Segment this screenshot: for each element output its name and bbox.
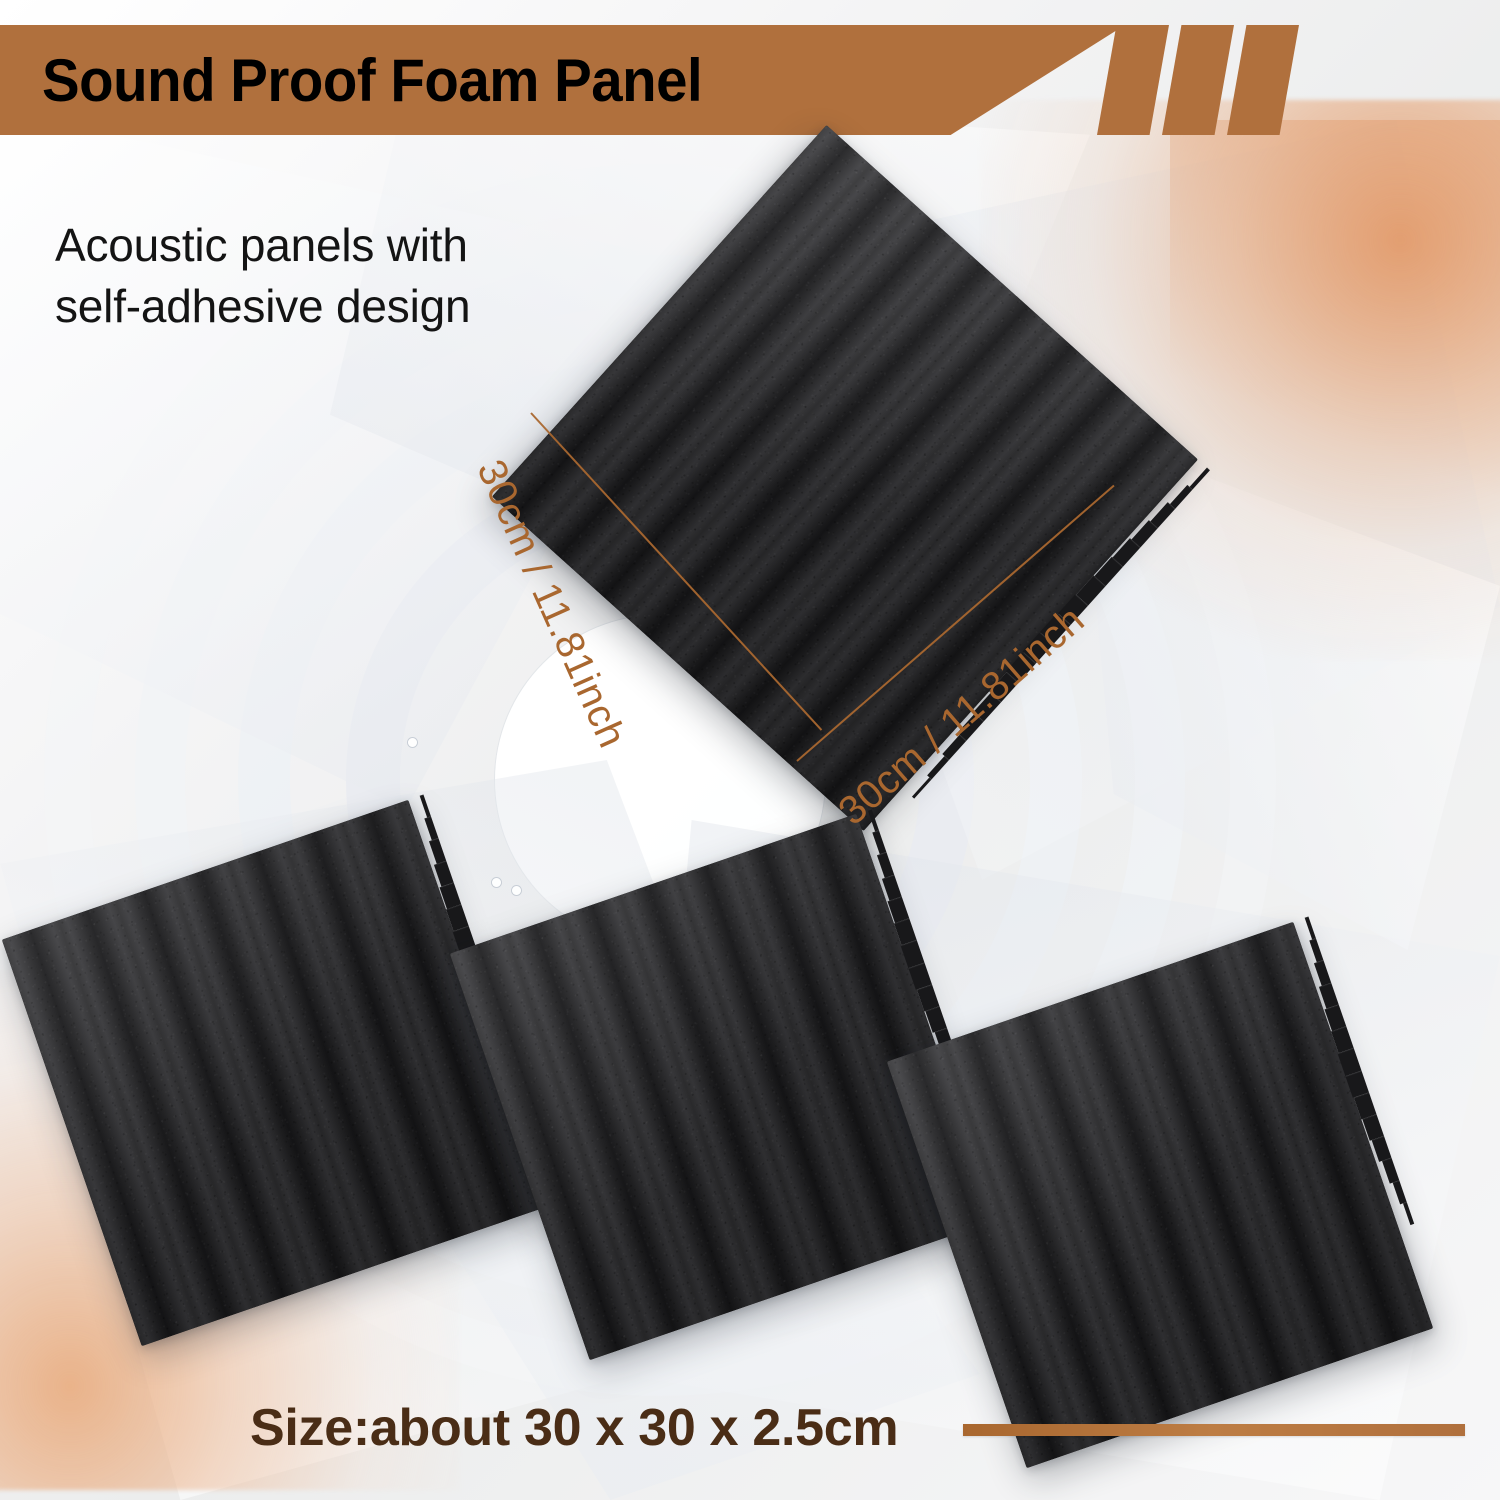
product-subtitle: Acoustic panels with self-adhesive desig… <box>55 215 695 337</box>
subtitle-line-1: Acoustic panels with <box>55 215 695 276</box>
size-caption: Size:about 30 x 30 x 2.5cm <box>250 1398 898 1458</box>
header-banner: Sound Proof Foam Panel <box>0 25 1330 135</box>
ring-dot-1 <box>408 738 417 747</box>
ring-dot-4 <box>512 886 521 895</box>
banner-stripe-3 <box>1227 25 1299 135</box>
footer-accent-rule <box>963 1424 1465 1436</box>
page-title: Sound Proof Foam Panel <box>42 25 702 135</box>
ring-dot-2 <box>492 878 501 887</box>
banner-stripe-2 <box>1162 25 1234 135</box>
subtitle-line-2: self-adhesive design <box>55 276 695 337</box>
product-infographic: Sound Proof Foam Panel Acoustic panels w… <box>0 0 1500 1500</box>
banner-stripe-1 <box>1097 25 1169 135</box>
